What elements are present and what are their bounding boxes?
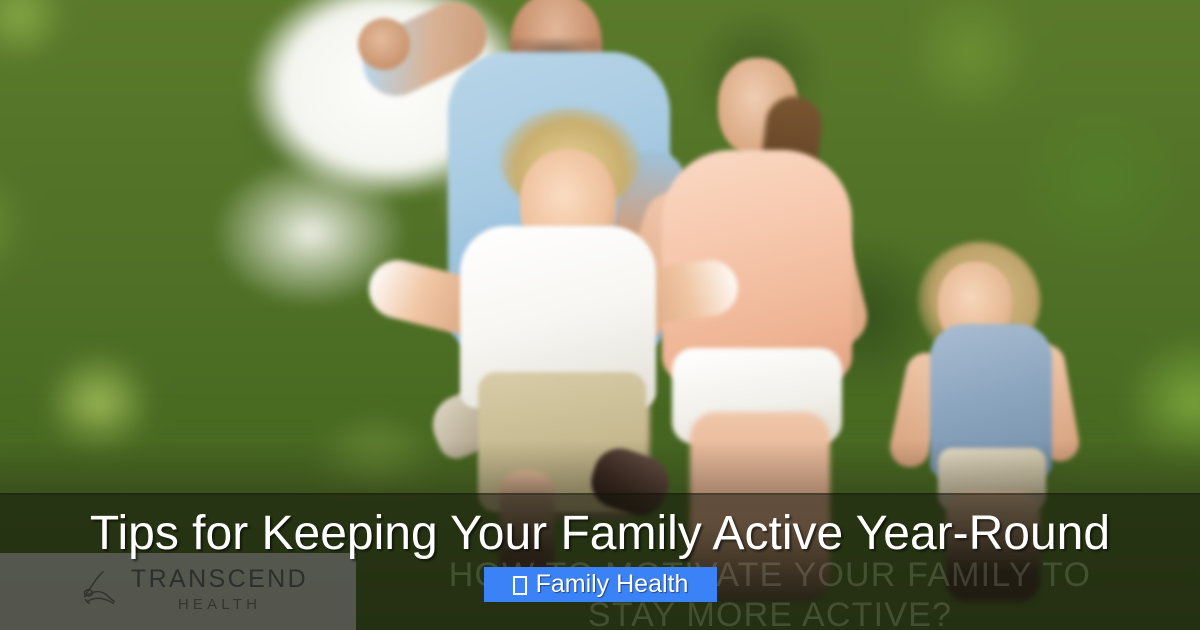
missing-glyph-icon bbox=[513, 576, 527, 595]
logo-lockup: TRANSCEND HEALTH bbox=[76, 566, 308, 614]
overlay-gradient bbox=[0, 440, 1200, 495]
category-badge-label: Family Health bbox=[536, 567, 689, 602]
page-title: Tips for Keeping Your Family Active Year… bbox=[0, 506, 1200, 562]
hero-card: HOW TO MOTIVATE YOUR FAMILY TO STAY MORE… bbox=[0, 0, 1200, 630]
logo-subtitle: HEALTH bbox=[178, 595, 261, 614]
logo-name: TRANSCEND bbox=[131, 566, 308, 593]
reclining-figure-icon bbox=[76, 567, 122, 613]
father-left-hand bbox=[358, 18, 410, 70]
logo-panel[interactable]: TRANSCEND HEALTH bbox=[0, 553, 356, 630]
category-badge[interactable]: Family Health bbox=[484, 567, 717, 602]
logo-text: TRANSCEND HEALTH bbox=[131, 566, 308, 614]
